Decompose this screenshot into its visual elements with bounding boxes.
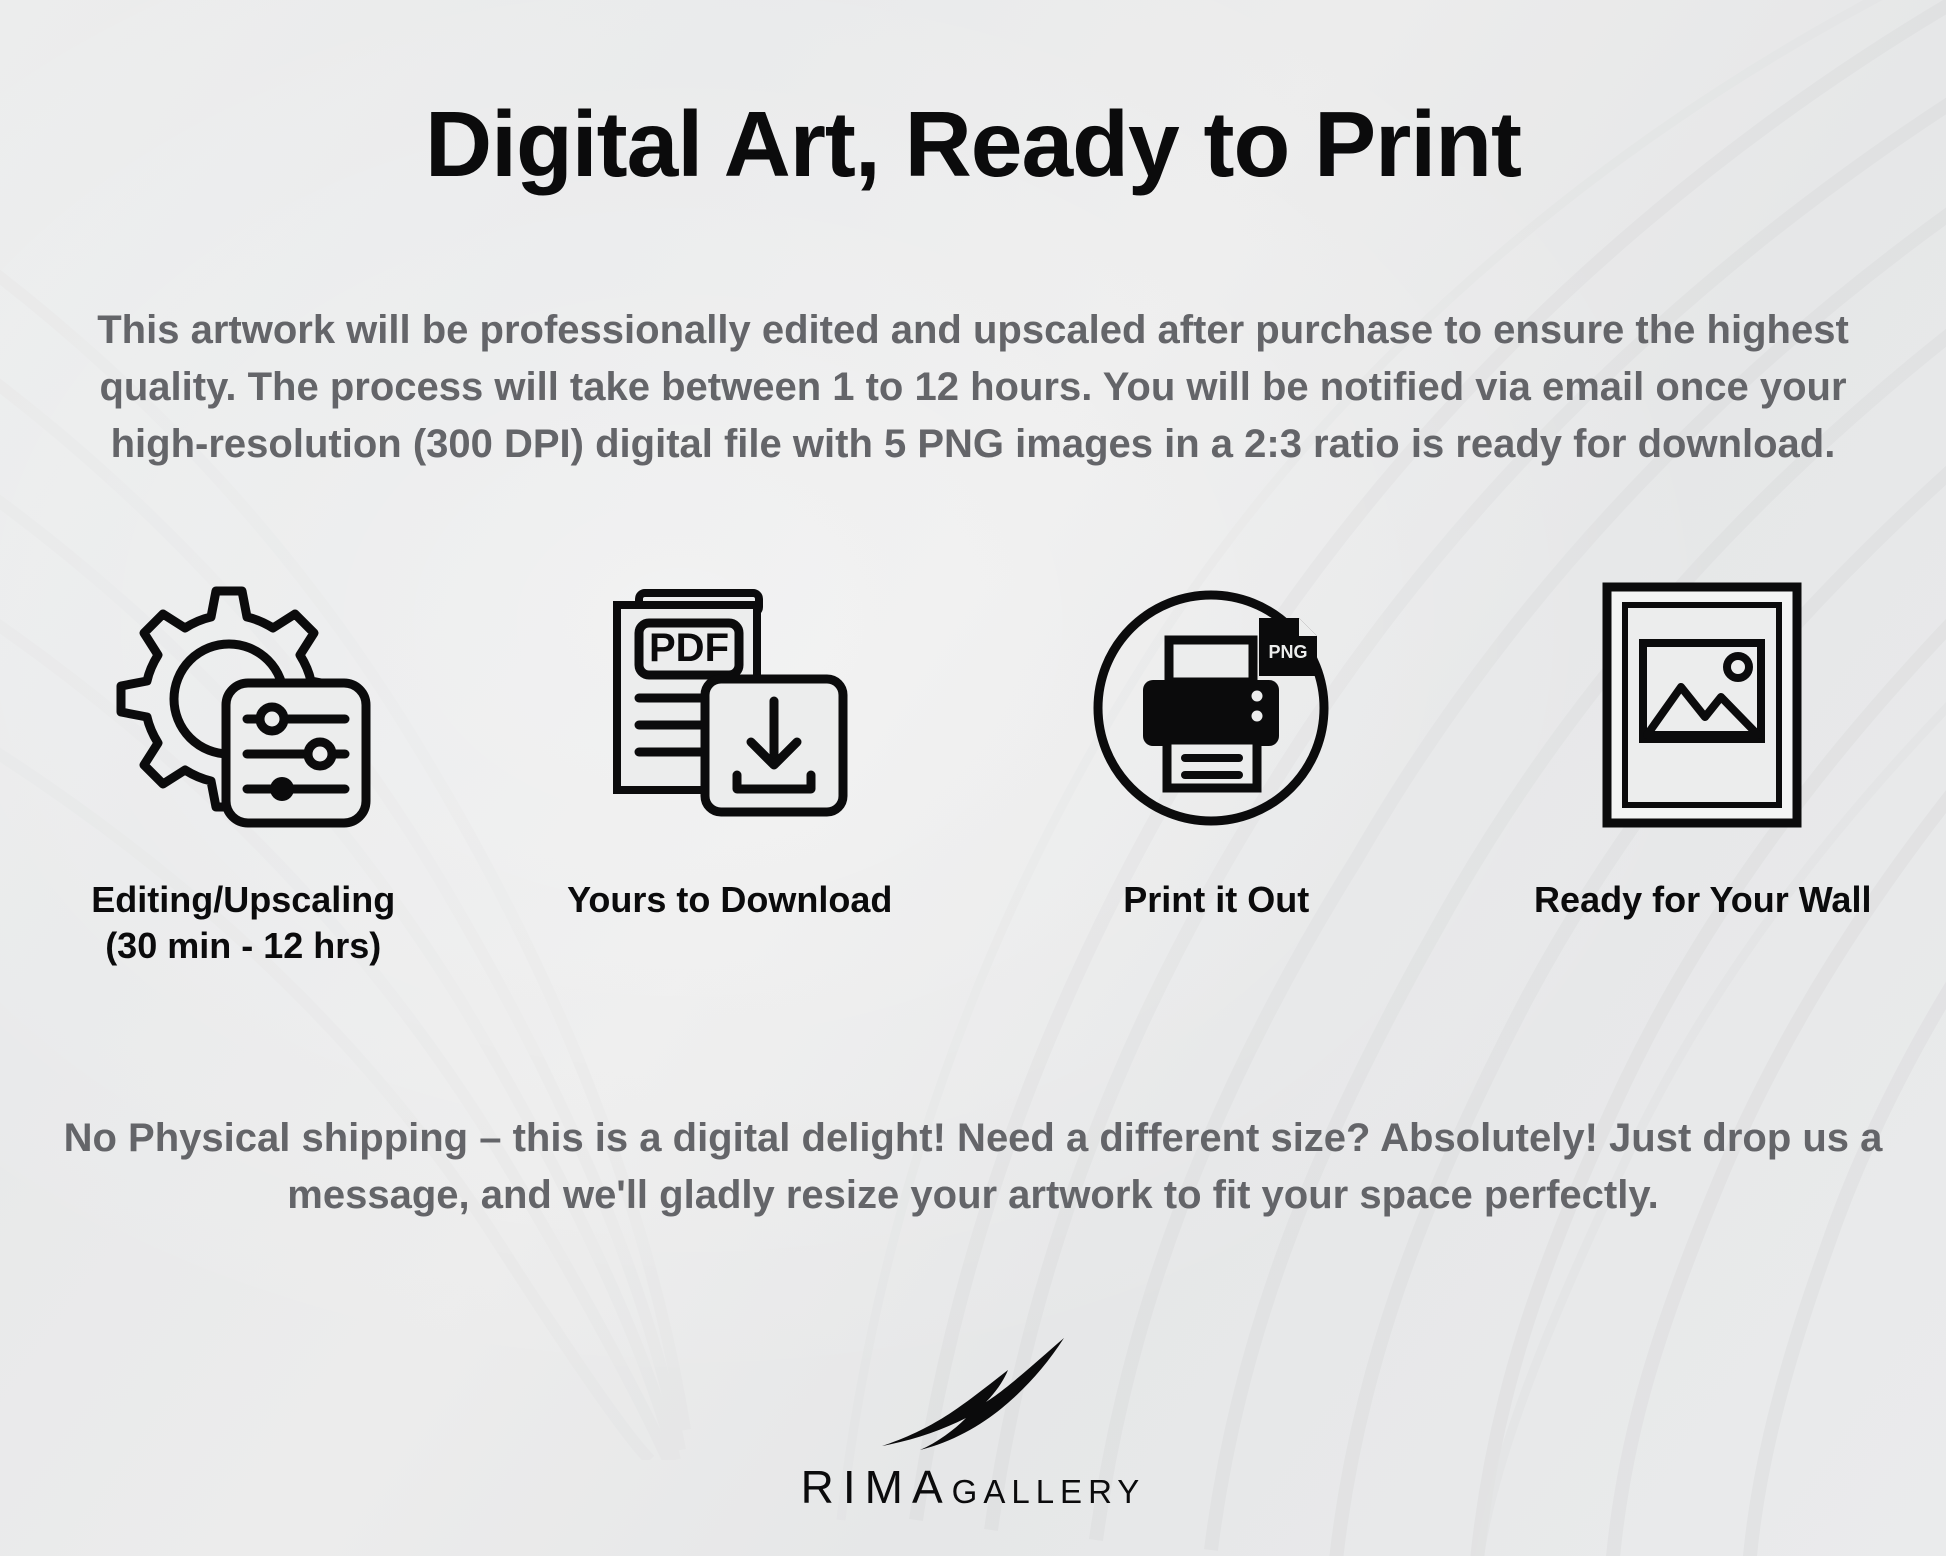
png-file-badge: PNG <box>1259 618 1317 676</box>
steps-row: Editing/Upscaling (30 min - 12 hrs) PDF <box>0 555 1946 969</box>
step-label: Ready for Your Wall <box>1534 877 1871 923</box>
rima-swoosh-logo-icon <box>868 1332 1078 1452</box>
brand-name-secondary: GALLERY <box>952 1473 1146 1511</box>
framed-picture-icon <box>1595 575 1810 835</box>
step-editing-upscaling: Editing/Upscaling (30 min - 12 hrs) <box>23 555 463 969</box>
outro-paragraph: No Physical shipping – this is a digital… <box>53 1110 1893 1224</box>
step-print-it-out: PNG Print it Out <box>996 555 1436 923</box>
printer-circle-icon: PNG <box>1091 580 1341 830</box>
step-icon-wrapper <box>1595 555 1810 855</box>
page-title: Digital Art, Ready to Print <box>0 98 1946 191</box>
step-icon-wrapper: PDF <box>597 555 862 855</box>
pdf-badge-text: PDF <box>649 626 729 670</box>
step-icon-wrapper: PNG <box>1091 555 1341 855</box>
step-label: Editing/Upscaling (30 min - 12 hrs) <box>91 877 395 969</box>
step-icon-wrapper <box>106 555 381 855</box>
step-ready-for-your-wall: Ready for Your Wall <box>1483 555 1923 923</box>
gear-sliders-icon <box>106 573 381 838</box>
brand-name-primary: RIMA <box>801 1460 952 1514</box>
intro-paragraph: This artwork will be professionally edit… <box>58 302 1888 472</box>
brand-block: RIMA GALLERY <box>0 1332 1946 1514</box>
brand-wordmark: RIMA GALLERY <box>801 1460 1146 1514</box>
step-yours-to-download: PDF <box>510 555 950 923</box>
pdf-download-icon: PDF <box>597 575 862 835</box>
step-label: Print it Out <box>1123 877 1309 923</box>
png-badge-text: PNG <box>1269 642 1308 662</box>
promo-graphic: Digital Art, Ready to Print This artwork… <box>0 0 1946 1556</box>
step-label: Yours to Download <box>567 877 892 923</box>
